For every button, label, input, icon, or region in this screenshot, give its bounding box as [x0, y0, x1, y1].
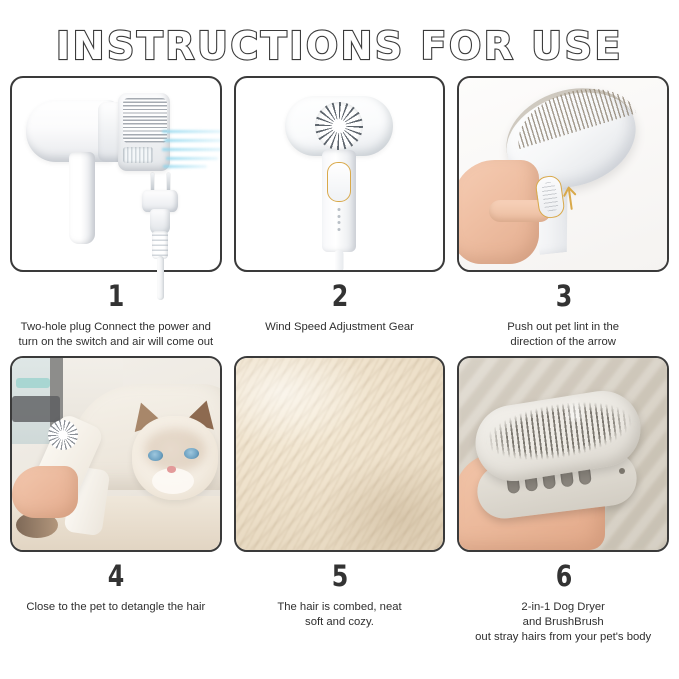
wind-speed-button[interactable] [327, 162, 351, 202]
caption-line: direction of the arrow [507, 335, 619, 350]
hand [12, 466, 78, 518]
caption-line: turn on the switch and air will come out [19, 335, 214, 350]
dryer-rear-illustration [236, 78, 444, 270]
airflow-icon [162, 126, 220, 172]
step-card-2: 2 Wind Speed Adjustment Gear [234, 76, 446, 350]
air-vent-icon [123, 147, 153, 163]
fur-sheen [236, 358, 444, 550]
fur-texture-photo [236, 358, 444, 550]
step-image-1 [10, 76, 222, 272]
caption-line: The hair is combed, neat [277, 600, 401, 615]
step-caption-5: The hair is combed, neat soft and cozy. [275, 600, 403, 630]
caption-line: out stray hairs from your pet's body [475, 630, 651, 645]
caption-line: 2-in-1 Dog Dryer [475, 600, 651, 615]
caption-line: Wind Speed Adjustment Gear [265, 320, 414, 335]
step-caption-1: Two-hole plug Connect the power and turn… [17, 320, 216, 350]
caption-line: Close to the pet to detangle the hair [26, 600, 205, 615]
button-grooves [541, 181, 559, 213]
speed-indicator-dots [338, 208, 341, 231]
plug-prong-right [167, 173, 170, 191]
step-card-6: 6 2-in-1 Dog Dryer and BrushBrush out st… [457, 356, 669, 645]
step-number-5: 5 [332, 562, 348, 591]
page-title: INSTRUCTIONS FOR USE [56, 24, 623, 68]
plug-grip [152, 231, 168, 259]
step-number-4: 4 [108, 562, 124, 591]
dryer-handle [69, 152, 95, 244]
step-number-6: 6 [555, 562, 571, 591]
step-card-1: 1 Two-hole plug Connect the power and tu… [10, 76, 222, 350]
step-number-2: 2 [332, 282, 348, 311]
brush-head-in-hand-photo [459, 358, 667, 550]
dryer-with-plug-illustration [12, 78, 220, 270]
caption-line: and BrushBrush [475, 615, 651, 630]
fan-vent-icon [315, 102, 363, 150]
step-card-5: 5 The hair is combed, neat soft and cozy… [234, 356, 446, 645]
step-image-5 [234, 356, 446, 552]
power-cord [157, 256, 164, 300]
instruction-grid: 1 Two-hole plug Connect the power and tu… [0, 76, 679, 645]
step-caption-2: Wind Speed Adjustment Gear [263, 320, 416, 335]
step-caption-4: Close to the pet to detangle the hair [24, 600, 207, 615]
step-image-6 [457, 356, 669, 552]
step-caption-3: Push out pet lint in the direction of th… [505, 320, 621, 350]
step-caption-6: 2-in-1 Dog Dryer and BrushBrush out stra… [473, 600, 653, 645]
collected-hair [555, 376, 595, 420]
hand-holding-brush-illustration [459, 78, 667, 270]
step-card-3: 3 Push out pet lint in the direction of … [457, 76, 669, 350]
caption-line: soft and cozy. [277, 615, 401, 630]
caption-line: Push out pet lint in the [507, 320, 619, 335]
cat-nose [167, 466, 176, 473]
direction-arrow-icon [561, 183, 580, 211]
power-cord-stub [335, 250, 344, 270]
step-image-3 [457, 76, 669, 272]
step-image-4 [10, 356, 222, 552]
caption-line: Two-hole plug Connect the power and [19, 320, 214, 335]
step-number-1: 1 [108, 282, 124, 311]
bristle-rows-icon [123, 98, 167, 143]
page-header: INSTRUCTIONS FOR USE [0, 0, 679, 76]
step-card-4: 4 Close to the pet to detangle the hair [10, 356, 222, 645]
step-image-2 [234, 76, 446, 272]
step-number-3: 3 [555, 282, 571, 311]
cat-grooming-photo [12, 358, 220, 550]
cat-eye-left [148, 450, 163, 461]
cat-eye-right [184, 448, 199, 459]
plug-prong-left [151, 173, 154, 191]
